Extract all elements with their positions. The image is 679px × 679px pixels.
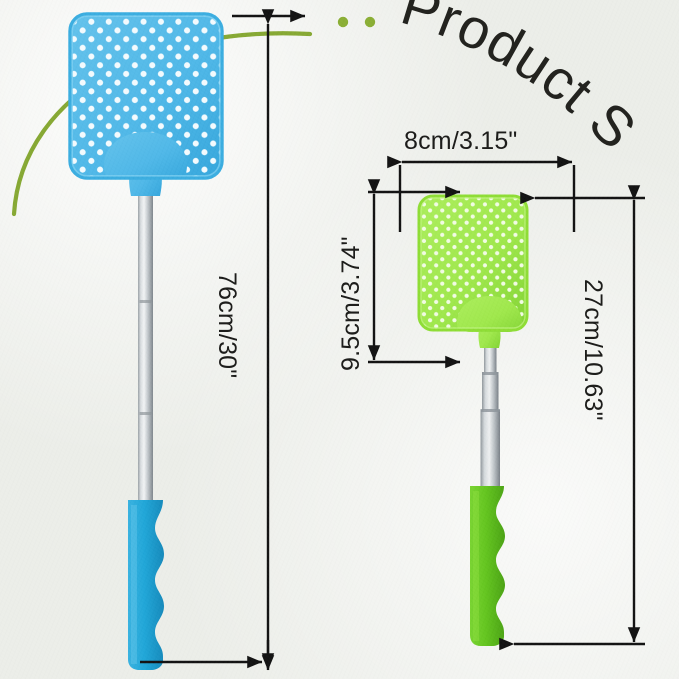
blue-length-label: 76cm/30" (212, 272, 241, 378)
green-head-height-label: 9.5cm/3.74" (337, 236, 366, 371)
green-rod-seg3 (481, 410, 501, 492)
green-fly-swatter (419, 196, 527, 646)
green-length-label: 27cm/10.63" (578, 279, 607, 421)
blue-telescopic-rod (138, 168, 153, 510)
green-length-dimension (514, 198, 645, 644)
green-rod-seg2 (482, 372, 499, 412)
product-size-infographic: Product Size 76cm/30" 8cm/3.15" 9.5cm/3.… (0, 0, 679, 679)
green-width-label: 8cm/3.15" (404, 127, 518, 156)
vine-dot (338, 17, 348, 27)
blue-fly-swatter (70, 14, 222, 670)
vine-dot (365, 17, 375, 27)
